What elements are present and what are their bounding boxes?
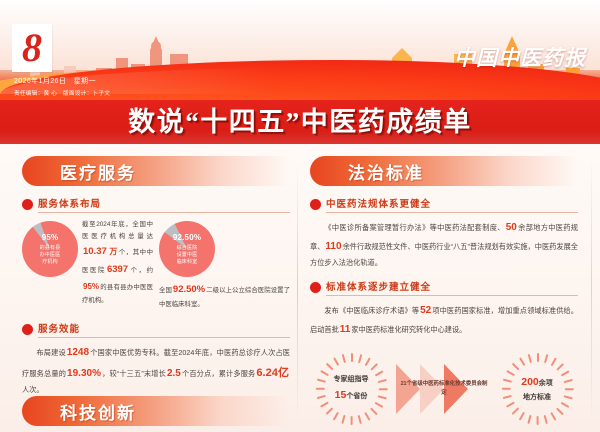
badge-line2-text: 个省份	[346, 393, 367, 400]
right-edge-rule	[591, 152, 592, 424]
footer-section: 科技创新	[22, 396, 290, 432]
editor-credits: 责任编辑：黄 心 版面设计：卜子文	[14, 89, 110, 97]
badge-value: 200	[521, 376, 539, 388]
subsection-legal-system: 中医药法规体系更健全	[310, 196, 578, 213]
text-e: 人次。	[22, 385, 44, 394]
text-a: 发布《中医临床诊疗术语》等	[324, 306, 419, 315]
main-title-bar: 数说“十四五”中医药成绩单	[0, 100, 600, 144]
subsection-title: 服务体系布局	[38, 196, 290, 213]
badge-provincial-committees: 21个省级中医药标准化技术委员会制定	[396, 356, 492, 422]
value-general-hospital-pct: 92.50%	[172, 284, 206, 295]
paragraph-standard-system: 发布《中医临床诊疗术语》等52项中医药国家标准，增加重点领域标准供给。启动首批1…	[310, 302, 578, 339]
value-national-standards: 52	[419, 305, 432, 316]
section-header-medical-service: 医疗服务	[22, 156, 290, 186]
section-title: 科技创新	[60, 399, 136, 424]
badge-line2: 地方标准	[521, 393, 553, 404]
badge-label: 专家组指导 15个省份	[334, 375, 369, 403]
pie-top: 95% 的县有县 办中医医 疗机构 截至2024年底，全国中医医疗机构总量达10…	[22, 219, 153, 307]
badge-line1-text: 余项	[539, 380, 553, 387]
text-c: 余件行政规范性文件、中医药行业“八五”普法规划有效实施，中医药发展全方位步入法治…	[310, 242, 578, 268]
text-c: 家中医药标准化研究转化中心建设。	[351, 325, 466, 334]
badge-value: 15	[335, 389, 347, 401]
text-d: 个百分点，累计多服务	[182, 369, 256, 378]
value-research-centers: 11	[339, 324, 352, 335]
left-column: 医疗服务 服务体系布局 95% 的县有县 办中医医 疗机构	[22, 156, 290, 397]
subsection-service-efficiency: 服务效能	[22, 321, 290, 338]
paragraph-service-efficiency: 布局建设1248个国家中医优势专科。截至2024年底，中医药总诊疗人次占医疗服务…	[22, 344, 290, 396]
unit-wan: 万	[108, 247, 119, 256]
value-growth-points: 2.5	[166, 368, 182, 379]
pie-chart-row: 95% 的县有县 办中医医 疗机构 截至2024年底，全国中医医疗机构总量达10…	[22, 219, 290, 311]
text-a: 《中医诊所备案管理暂行办法》等中医药法配套制度、	[324, 223, 504, 232]
pie-label-line2: 办中医医	[40, 252, 61, 258]
value-tcm-hospitals: 6397	[106, 264, 129, 275]
subsection-service-system: 服务体系布局	[22, 196, 290, 213]
pie-percent-value: 95%	[22, 232, 78, 244]
section-header-law-standard: 法治标准	[310, 156, 578, 186]
value-share-pct: 19.30%	[66, 368, 102, 379]
bullet-dot-icon	[310, 199, 321, 210]
newspaper-page: 8 2026年1月26日 星期一 责任编辑：黄 心 版面设计：卜子文 中国中医药…	[0, 0, 600, 432]
column-divider	[297, 158, 298, 422]
badge-label: 21个省级中医药标准化技术委员会制定	[398, 380, 490, 398]
pie-left-description: 截至2024年底，全国中医医疗机构总量达10.37万个，其中中医医院6397个，…	[82, 219, 153, 307]
paragraph-legal-system: 《中医诊所备案管理暂行办法》等中医药法配套制度、50余部地方中医药规章、110余…	[310, 219, 578, 269]
pie-label-line3: 临床科室	[177, 259, 198, 265]
text-mid2: 个，约	[129, 267, 153, 274]
pie-label-line2: 设置中医	[177, 252, 198, 258]
pie-chart-9250: 92.50% 综合医院 设置中医 临床科室	[159, 221, 215, 277]
pie-label-line1: 综合医院	[177, 244, 198, 250]
value-extra-visits: 6.24亿	[255, 367, 290, 379]
bullet-dot-icon	[22, 199, 33, 210]
section-title: 医疗服务	[60, 159, 136, 184]
pie-unit-general-hospitals: 92.50% 综合医院 设置中医 临床科室 全国92.50%二级以上公立综合医院…	[159, 219, 290, 311]
standards-badge-row: 专家组指导 15个省份 21个省级中医药标准化技术委员会制定	[310, 353, 578, 425]
badge-expert-guidance: 专家组指导 15个省份	[310, 353, 392, 425]
bullet-dot-icon	[22, 324, 33, 335]
text-prefix: 截至2024年底，全国中医医疗机构总量达	[82, 221, 153, 240]
pie-percent-value: 92.50%	[159, 232, 215, 244]
pie-label-line3: 疗机构	[42, 259, 58, 265]
badge-line2: 15个省份	[334, 388, 369, 404]
right-column: 法治标准 中医药法规体系更健全 《中医诊所备案管理暂行办法》等中医药法配套制度、…	[310, 156, 578, 425]
publication-date: 2026年1月26日 星期一	[14, 76, 110, 86]
subsection-title: 标准体系逐步建立健全	[326, 279, 578, 296]
text-a: 布局建设	[36, 348, 65, 357]
section-header-tech-innovation: 科技创新	[22, 396, 290, 426]
pie-unit-county-institutions: 95% 的县有县 办中医医 疗机构 截至2024年底，全国中医医疗机构总量达10…	[22, 219, 153, 311]
value-normative-docs: 110	[324, 241, 342, 252]
pie-chart-95: 95% 的县有县 办中医医 疗机构	[22, 221, 78, 277]
pie-center-label: 92.50% 综合医院 设置中医 临床科室	[159, 232, 215, 266]
value-total-institutions: 10.37	[82, 246, 108, 257]
text-prefix: 全国	[159, 287, 172, 294]
bullet-dot-icon	[310, 282, 321, 293]
badge-local-standards: 200余项 地方标准	[496, 353, 578, 425]
subsection-title: 中医药法规体系更健全	[326, 196, 578, 213]
section-title: 法治标准	[348, 159, 424, 184]
badge-line1: 200余项	[521, 375, 553, 391]
value-specialties: 1248	[66, 347, 90, 358]
pie-label-line1: 的县有县	[40, 244, 61, 250]
badge-line1: 专家组指导	[334, 375, 369, 386]
pie-center-label: 95% 的县有县 办中医医 疗机构	[22, 232, 78, 266]
page-title: 数说“十四五”中医药成绩单	[128, 109, 472, 136]
masthead-banner: 8 2026年1月26日 星期一 责任编辑：黄 心 版面设计：卜子文 中国中医药…	[0, 0, 600, 100]
page-number: 8	[22, 28, 42, 68]
dateline: 2026年1月26日 星期一 责任编辑：黄 心 版面设计：卜子文	[14, 76, 110, 97]
page-number-badge: 8	[12, 24, 52, 72]
value-local-regulations: 50	[505, 222, 518, 233]
paper-name-logo: 中国中医药报	[454, 42, 586, 72]
badge-label: 200余项 地方标准	[521, 375, 553, 403]
pie-top: 92.50% 综合医院 设置中医 临床科室	[159, 219, 290, 277]
value-county-pct: 95%	[82, 282, 100, 291]
subsection-standard-system: 标准体系逐步建立健全	[310, 279, 578, 296]
text-c: ，较“十三五”末增长	[102, 369, 166, 378]
pie-right-description: 全国92.50%二级以上公立综合医院设置了中医临床科室。	[159, 281, 290, 311]
subsection-title: 服务效能	[38, 321, 290, 338]
